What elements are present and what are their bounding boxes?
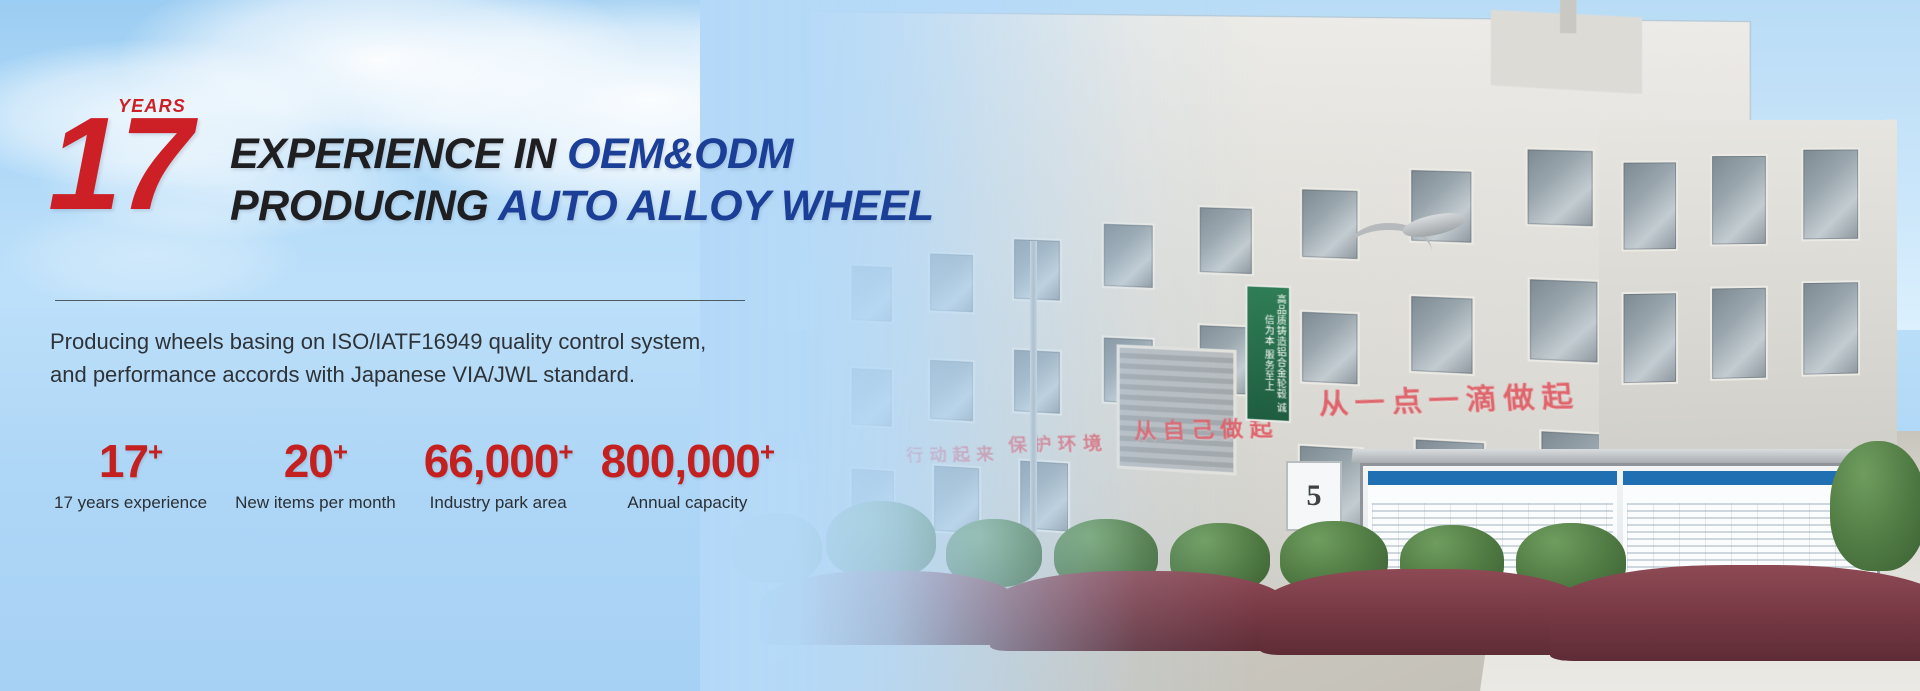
stat-number: 20 [284, 435, 333, 487]
headline: EXPERIENCE IN OEM&ODM PRODUCING AUTO ALL… [230, 128, 870, 232]
stat-value: 20+ [235, 435, 396, 487]
stat-suffix: + [760, 437, 774, 467]
statistics-row: 17+ 17 years experience 20+ New items pe… [40, 435, 788, 515]
stat-suffix: + [558, 437, 572, 467]
stat-suffix: + [333, 437, 347, 467]
headline-line-2-blue: AUTO ALLOY WHEEL [498, 182, 934, 230]
stat-number: 66,000 [424, 435, 559, 487]
stat-item: 66,000+ Industry park area [410, 435, 587, 515]
stat-value: 17+ [54, 435, 207, 487]
stat-value: 66,000+ [424, 435, 573, 487]
stat-label: New items per month [235, 491, 396, 515]
stat-label: Annual capacity [601, 491, 774, 515]
stat-label: 17 years experience [54, 491, 207, 515]
stat-item: 800,000+ Annual capacity [587, 435, 788, 515]
stat-item: 20+ New items per month [221, 435, 410, 515]
horizontal-divider [55, 300, 745, 301]
headline-line-2: PRODUCING AUTO ALLOY WHEEL [230, 180, 870, 232]
stat-item: 17+ 17 years experience [40, 435, 221, 515]
description-line-2: and performance accords with Japanese VI… [50, 358, 770, 391]
headline-line-1-blue: OEM&ODM [567, 130, 793, 178]
stat-number: 17 [99, 435, 148, 487]
description-text: Producing wheels basing on ISO/IATF16949… [50, 325, 770, 391]
stat-label: Industry park area [424, 491, 573, 515]
banner-text-content: YEARS 17 EXPERIENCE IN OEM&ODM PRODUCING… [0, 0, 900, 691]
stat-value: 800,000+ [601, 435, 774, 487]
headline-line-1-dark: EXPERIENCE IN [230, 130, 567, 178]
years-number: 17 [48, 104, 191, 224]
company-hero-banner: 行动起来 保护环境 从自己做起 从一点一滴做起 高品质铸造铝合金轮毂 诚信为本 … [0, 0, 1920, 691]
years-badge: YEARS 17 [48, 96, 248, 236]
description-line-1: Producing wheels basing on ISO/IATF16949… [50, 325, 770, 358]
stat-number: 800,000 [601, 435, 760, 487]
stat-suffix: + [148, 437, 162, 467]
headline-line-2-dark: PRODUCING [230, 182, 498, 230]
headline-line-1: EXPERIENCE IN OEM&ODM [230, 128, 870, 180]
